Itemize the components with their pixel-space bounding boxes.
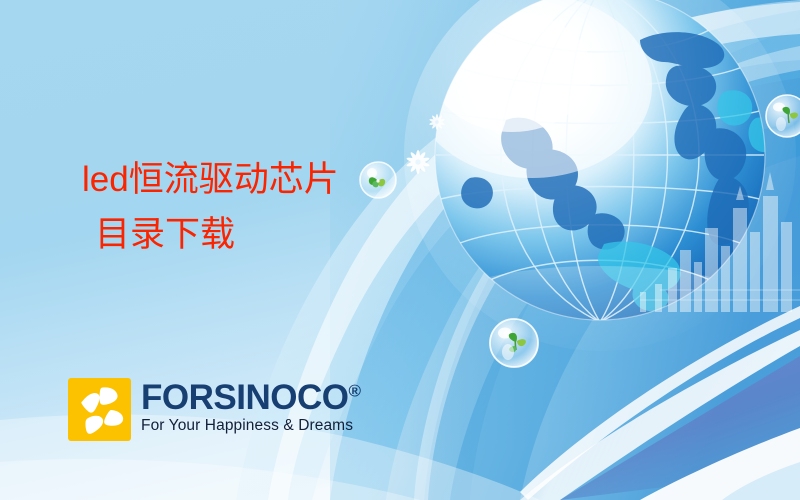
slide-title: led恒流驱动芯片 目录下载 [82, 162, 339, 254]
bubble-decoration [490, 319, 538, 367]
four-petal-pinwheel-icon [68, 378, 131, 441]
registered-trademark-icon: ® [348, 381, 361, 400]
bubble-decoration [766, 95, 800, 137]
title-line-2: 目录下载 [95, 217, 339, 254]
logo-wordmark-text: FORSINOCO [141, 378, 348, 417]
bubble-decoration [360, 162, 396, 198]
sparkle-icon [406, 150, 430, 174]
company-logo[interactable]: FORSINOCO® For Your Happiness & Dreams [68, 378, 361, 441]
logo-wordmark: FORSINOCO® [141, 380, 361, 415]
banner-slide: led恒流驱动芯片 目录下载 FORSINOCO® For Your Happi… [0, 0, 800, 500]
logo-mark-icon [68, 378, 131, 441]
logo-tagline: For Your Happiness & Dreams [141, 417, 361, 435]
title-line-1: led恒流驱动芯片 [82, 162, 339, 199]
sparkle-icon [429, 114, 445, 130]
logo-text-block: FORSINOCO® For Your Happiness & Dreams [141, 378, 361, 435]
